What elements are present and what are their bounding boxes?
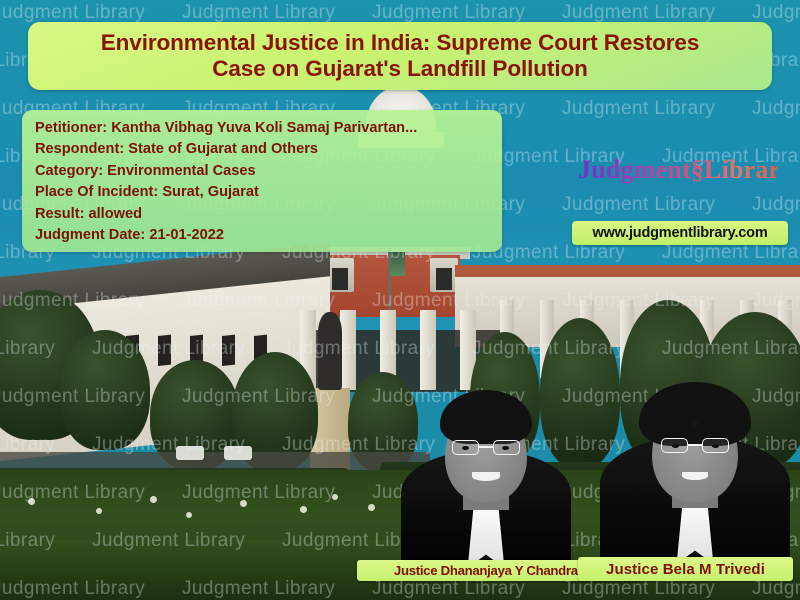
case-info-category: Category: Environmental Cases xyxy=(35,161,502,182)
judge-name-badge-trivedi: Justice Bela M Trivedi xyxy=(578,557,793,581)
eye-right xyxy=(502,446,509,450)
tower-left-pavilion xyxy=(326,258,354,292)
website-url-text: www.judgmentlibrary.com xyxy=(592,225,767,241)
page-title: Environmental Justice in India: Supreme … xyxy=(91,30,710,82)
window xyxy=(222,335,235,366)
flower xyxy=(186,512,192,518)
brand-logo: Judgment§Library xyxy=(578,155,778,189)
parked-car xyxy=(224,446,252,460)
flower xyxy=(96,508,102,514)
mouth xyxy=(682,472,708,480)
case-info-place: Place Of Incident: Surat, Gujarat xyxy=(35,182,502,203)
tree xyxy=(60,330,150,450)
flower xyxy=(150,496,157,503)
flower xyxy=(368,504,375,511)
flower xyxy=(28,498,35,505)
flower xyxy=(332,494,338,500)
flower xyxy=(240,500,247,507)
case-info-respondent: Respondent: State of Gujarat and Others xyxy=(35,139,502,160)
case-info-result: Result: allowed xyxy=(35,204,502,225)
window xyxy=(158,335,171,366)
flower xyxy=(300,506,307,513)
poster-canvas: Judgment Library Judgment Library Judgme… xyxy=(0,0,800,600)
judge-name-label: Justice Bela M Trivedi xyxy=(606,561,765,578)
parked-car xyxy=(176,446,204,460)
judge-portrait-trivedi xyxy=(592,362,798,568)
eye-right xyxy=(712,444,719,448)
eye-left xyxy=(462,446,469,450)
tower-right-pavilion xyxy=(430,258,458,292)
case-info-date: Judgment Date: 21-01-2022 xyxy=(35,225,502,246)
headline-banner: Environmental Justice in India: Supreme … xyxy=(28,22,772,90)
page-title-line-2: Case on Gujarat's Landfill Pollution xyxy=(212,56,588,81)
website-url-badge[interactable]: www.judgmentlibrary.com xyxy=(572,221,788,245)
case-info-petitioner: Petitioner: Kantha Vibhag Yuva Koli Sama… xyxy=(35,118,502,139)
eye-left xyxy=(672,444,679,448)
mouth xyxy=(472,472,500,481)
portico-column xyxy=(340,310,356,390)
judge-name-label: Justice Dhananjaya Y Chandrachud xyxy=(394,563,608,578)
judge-hair xyxy=(440,390,532,444)
glasses-bridge xyxy=(479,446,493,448)
page-title-line-1: Environmental Justice in India: Supreme … xyxy=(101,30,700,55)
gandhi-statue xyxy=(318,312,342,390)
case-info-panel: Petitioner: Kantha Vibhag Yuva Koli Sama… xyxy=(22,110,502,252)
judge-hair xyxy=(639,382,751,446)
bindi xyxy=(692,420,699,427)
section-symbol-icon: § xyxy=(691,155,704,184)
judge-portrait-chandrachud xyxy=(388,368,584,568)
flag xyxy=(391,252,405,276)
brand-name-part1: Judgment xyxy=(578,155,691,184)
brand-name-part2: Library xyxy=(704,155,794,184)
glasses-bridge xyxy=(688,444,702,446)
